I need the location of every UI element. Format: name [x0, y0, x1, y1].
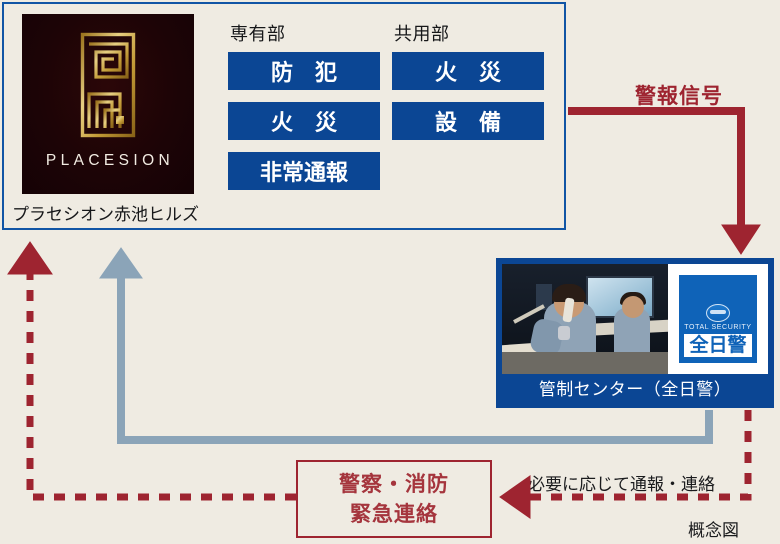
control-center-caption: 管制センター（全日警） [502, 374, 768, 406]
chip-private-fire[interactable]: 火災 [228, 102, 380, 140]
operator-badge [558, 326, 570, 340]
group-common: 共用部 火災 設備 [392, 20, 544, 152]
building-caption: プラセシオン赤池ヒルズ [12, 200, 199, 225]
control-center-media: TOTAL SECURITY 全日警 [502, 264, 768, 374]
placesion-maze-emblem [80, 32, 136, 138]
zennikkei-logo: TOTAL SECURITY 全日警 [668, 264, 768, 374]
diagram-canvas: PLACESION プラセシオン赤池ヒルズ 専有部 防犯 火災 非常通報 共用部… [0, 0, 780, 544]
building-logo: PLACESION [22, 14, 194, 194]
group-private-title: 専有部 [230, 20, 380, 46]
floor [502, 352, 668, 374]
group-private: 専有部 防犯 火災 非常通報 [228, 20, 380, 202]
arrow-notify-emergency [500, 410, 748, 518]
logo-square: PLACESION [22, 14, 194, 194]
building-panel: PLACESION プラセシオン赤池ヒルズ 専有部 防犯 火災 非常通報 共用部… [2, 2, 566, 230]
chip-common-fire[interactable]: 火災 [392, 52, 544, 90]
label-alarm-signal: 警報信号 [635, 80, 723, 110]
emergency-line-1: 警察・消防 [339, 469, 449, 499]
emergency-contact-box: 警察・消防 緊急連絡 [296, 460, 492, 538]
zennikkei-logo-inner: TOTAL SECURITY 全日警 [679, 275, 757, 363]
logo-wordmark: PLACESION [22, 152, 194, 170]
group-common-title: 共用部 [394, 20, 544, 46]
chip-private-crime-prevention[interactable]: 防犯 [228, 52, 380, 90]
operator-far-head [622, 296, 644, 318]
emergency-line-2: 緊急連絡 [350, 499, 438, 529]
arrow-emergency-to-building [8, 242, 296, 497]
zennikkei-tagline: TOTAL SECURITY [684, 324, 751, 331]
chip-private-emergency-call[interactable]: 非常通報 [228, 152, 380, 190]
zennikkei-name: 全日警 [684, 334, 752, 357]
chip-common-equipment[interactable]: 設備 [392, 102, 544, 140]
control-room-photo [502, 264, 668, 374]
label-notify-as-needed: 必要に応じて通報・連絡 [528, 470, 715, 495]
shield-globe-icon [706, 304, 730, 322]
arrow-alarm-signal [568, 111, 760, 254]
control-center-card: TOTAL SECURITY 全日警 管制センター（全日警） [496, 258, 774, 408]
label-concept-diagram: 概念図 [688, 516, 739, 541]
